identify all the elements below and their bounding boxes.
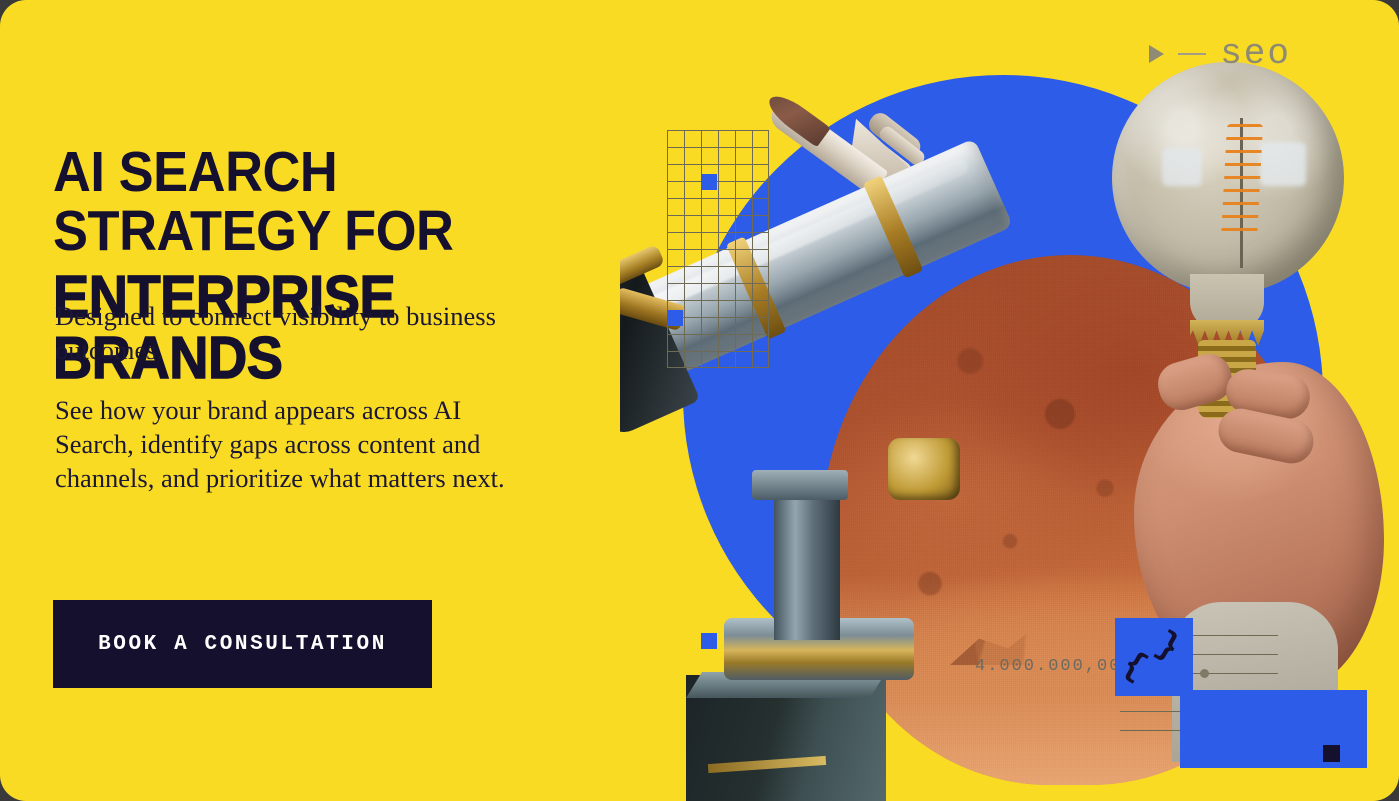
lightbulb-and-hand-image — [1098, 62, 1398, 702]
grid-cell-filled-3 — [701, 633, 717, 649]
brace-right-glyph: } — [1150, 627, 1185, 667]
play-triangle-icon — [1149, 45, 1164, 63]
subcopy-paragraph-1: Designed to connect visibility to busine… — [55, 300, 535, 368]
numeric-readout: 4.000.000,00 — [975, 657, 1121, 676]
telescope-focus-knob — [888, 438, 960, 500]
hero-banner: 4.000.000,00 { } seo AI SEARCH STRATEGY … — [0, 0, 1399, 801]
lightbulb-highlight-left — [1162, 148, 1202, 186]
subcopy-block: Designed to connect visibility to busine… — [55, 300, 535, 496]
grid-cell-filled-2 — [667, 310, 683, 326]
brand-logo[interactable]: seo — [1149, 36, 1291, 72]
telescope-fork — [752, 470, 848, 500]
dash-divider-icon — [1178, 53, 1206, 55]
lightbulb-filament — [1221, 124, 1263, 240]
logo-wordmark: seo — [1220, 36, 1291, 72]
dark-square-accent — [1323, 745, 1340, 762]
blue-brace-square: { } — [1115, 618, 1193, 696]
book-consultation-button[interactable]: BOOK A CONSULTATION — [53, 600, 432, 688]
brace-left-glyph: { — [1117, 647, 1152, 687]
subcopy-paragraph-2: See how your brand appears across AI Sea… — [55, 394, 535, 496]
decorative-grid-pattern — [667, 130, 769, 368]
headline-line-1: AI SEARCH STRATEGY FOR — [53, 143, 605, 259]
chart-dot — [1200, 669, 1209, 678]
grid-cell-filled-1 — [701, 174, 717, 190]
lightbulb-glass — [1112, 62, 1344, 294]
lightbulb-highlight-right — [1260, 142, 1306, 186]
collage-artwork: 4.000.000,00 { } — [620, 0, 1399, 801]
telescope-pillar — [774, 490, 840, 640]
